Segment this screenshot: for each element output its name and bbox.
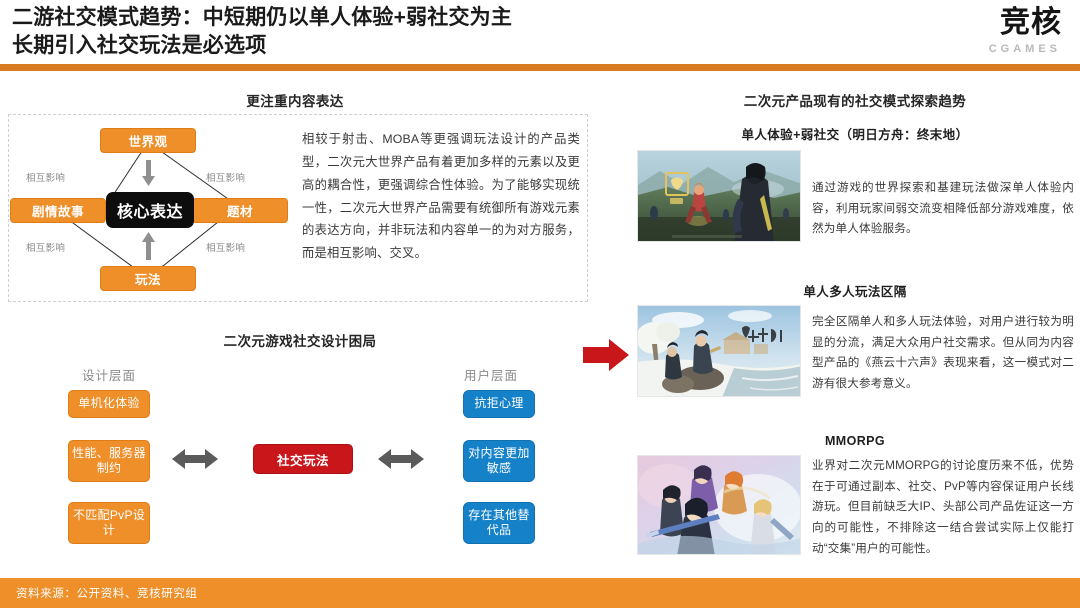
left-section-heading: 更注重内容表达 bbox=[130, 90, 460, 110]
influence-label-top-left: 相互影响 bbox=[26, 170, 65, 184]
card-2-text: 业界对二次元MMORPG的讨论度历来不低，优势在于可通过副本、社交、PvP等内容… bbox=[812, 456, 1074, 559]
diagram-node-core: 核心表达 bbox=[106, 192, 194, 228]
user-item-1: 对内容更加敏感 bbox=[463, 440, 535, 482]
core-expression-diagram: 世界观 剧情故事 题材 玩法 核心表达 相互影响 相互影响 相互影响 相互影响 bbox=[10, 120, 292, 296]
double-arrow-left-icon bbox=[172, 447, 218, 471]
right-section-heading: 二次元产品现有的社交模式探索趋势 bbox=[640, 90, 1070, 110]
design-item-1: 性能、服务器制约 bbox=[68, 440, 150, 482]
card-0-title: 单人体验+弱社交（明日方舟：终末地） bbox=[640, 124, 1070, 143]
diagram-node-gameplay: 玩法 bbox=[100, 266, 196, 291]
card-1-text: 完全区隔单人和多人玩法体验，对用户进行较为明显的分流，满足大众用户社交需求。但从… bbox=[812, 312, 1074, 395]
diagram-node-worldview: 世界观 bbox=[100, 128, 196, 153]
card-2-image bbox=[637, 455, 801, 555]
influence-label-bottom-left: 相互影响 bbox=[26, 240, 65, 254]
game-keyart-mmorpg-icon bbox=[638, 456, 801, 555]
game-screenshot-endfield-icon bbox=[638, 151, 801, 242]
design-layer-label: 设计层面 bbox=[54, 365, 164, 384]
slide-root: 二游社交模式趋势：中短期仍以单人体验+弱社交为主 长期引入社交玩法是必选项 竞核… bbox=[0, 0, 1080, 608]
user-layer-label: 用户层面 bbox=[436, 365, 546, 384]
page-title-line1: 二游社交模式趋势：中短期仍以单人体验+弱社交为主 bbox=[12, 6, 512, 29]
page-title: 二游社交模式趋势：中短期仍以单人体验+弱社交为主 长期引入社交玩法是必选项 bbox=[12, 4, 772, 60]
design-item-2: 不匹配PvP设计 bbox=[68, 502, 150, 544]
header-accent-bar bbox=[0, 64, 1080, 71]
card-1-title: 单人多人玩法区隔 bbox=[640, 281, 1070, 300]
dilemma-section-heading: 二次元游戏社交设计困局 bbox=[150, 330, 450, 350]
card-0-text: 通过游戏的世界探索和基建玩法做深单人体验内容，利用玩家间弱交流变相降低部分游戏难… bbox=[812, 178, 1074, 240]
user-item-0: 抗拒心理 bbox=[463, 390, 535, 418]
diagram-node-story: 剧情故事 bbox=[10, 198, 106, 223]
influence-label-bottom-right: 相互影响 bbox=[206, 240, 245, 254]
diagram-node-theme: 题材 bbox=[192, 198, 288, 223]
logo-english-text: CGAMES bbox=[989, 43, 1061, 55]
source-text: 资料来源：公开资料、竞核研究组 bbox=[16, 585, 198, 601]
section-transition-arrow-icon bbox=[583, 337, 629, 373]
user-item-2: 存在其他替代品 bbox=[463, 502, 535, 544]
content-expression-body: 相较于射击、MOBA等更强调玩法设计的产品类型，二次元大世界产品有着更加多样的元… bbox=[302, 128, 580, 265]
logo-chinese-text: 竞核 bbox=[1000, 8, 1062, 38]
card-0-image bbox=[637, 150, 801, 242]
influence-label-top-right: 相互影响 bbox=[206, 170, 245, 184]
card-2-title: MMORPG bbox=[640, 434, 1070, 448]
page-title-line2: 长期引入社交玩法是必选项 bbox=[12, 32, 772, 60]
card-1-image bbox=[637, 305, 801, 397]
social-gameplay-box: 社交玩法 bbox=[253, 444, 353, 474]
footer-bar: 资料来源：公开资料、竞核研究组 bbox=[0, 578, 1080, 608]
brand-logo: 竞核 CGAMES bbox=[942, 8, 1062, 64]
double-arrow-right-icon bbox=[378, 447, 424, 471]
design-item-0: 单机化体验 bbox=[68, 390, 150, 418]
game-screenshot-yanyun-icon bbox=[638, 306, 801, 397]
